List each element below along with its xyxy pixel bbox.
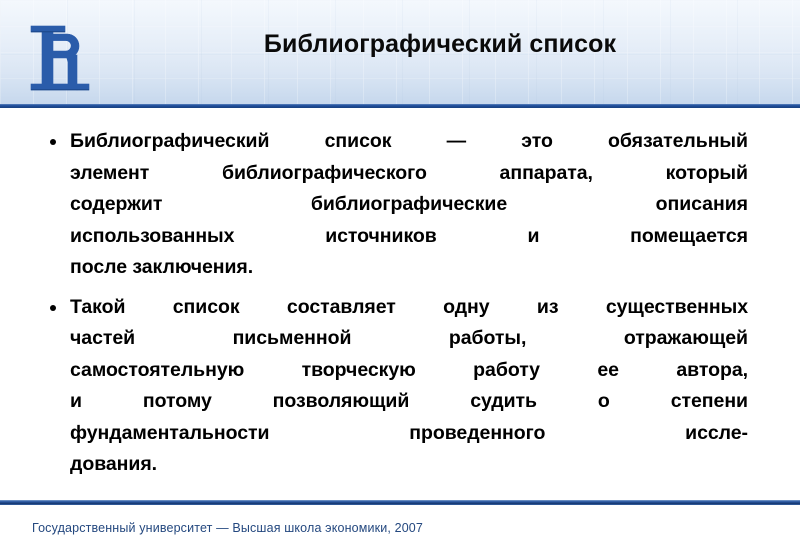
list-item: Такойсписоксоставляетоднуизсущественных … xyxy=(46,292,748,481)
bullet-line: элементбиблиографическогоаппарата,которы… xyxy=(70,158,748,190)
bullet-line: частейписьменнойработы,отражающей xyxy=(70,323,748,355)
bullet-line: содержитбиблиографическиеописания xyxy=(70,189,748,221)
footer-divider xyxy=(0,500,800,505)
slide: Библиографический список Библиографическ… xyxy=(0,0,800,554)
bullet-line: использованныхисточниковипомещается xyxy=(70,221,748,253)
bullet-line: дования. xyxy=(70,449,748,481)
bullet-line: самостоятельнуютворческуюработуееавтора, xyxy=(70,355,748,387)
bullet-dot-icon xyxy=(50,305,56,311)
bullet-line: Такойсписоксоставляетоднуизсущественных xyxy=(70,292,748,324)
bullet-line: ипотомупозволяющийсудитьостепени xyxy=(70,386,748,418)
slide-content: Библиографическийсписок—этообязательный … xyxy=(46,126,748,481)
header-divider xyxy=(0,104,800,108)
bullet-line: после заключения. xyxy=(70,252,748,284)
bullet-line: фундаментальностипроведенногоиссле- xyxy=(70,418,748,450)
slide-header: Библиографический список xyxy=(0,0,800,108)
bullet-dot-icon xyxy=(50,139,56,145)
hse-monogram-logo-icon xyxy=(27,22,93,94)
page-title: Библиографический список xyxy=(120,22,760,70)
list-item: Библиографическийсписок—этообязательный … xyxy=(46,126,748,284)
bullet-list: Библиографическийсписок—этообязательный … xyxy=(46,126,748,481)
bullet-line: Библиографическийсписок—этообязательный xyxy=(70,126,748,158)
footer-attribution: Государственный университет — Высшая шко… xyxy=(32,521,423,535)
